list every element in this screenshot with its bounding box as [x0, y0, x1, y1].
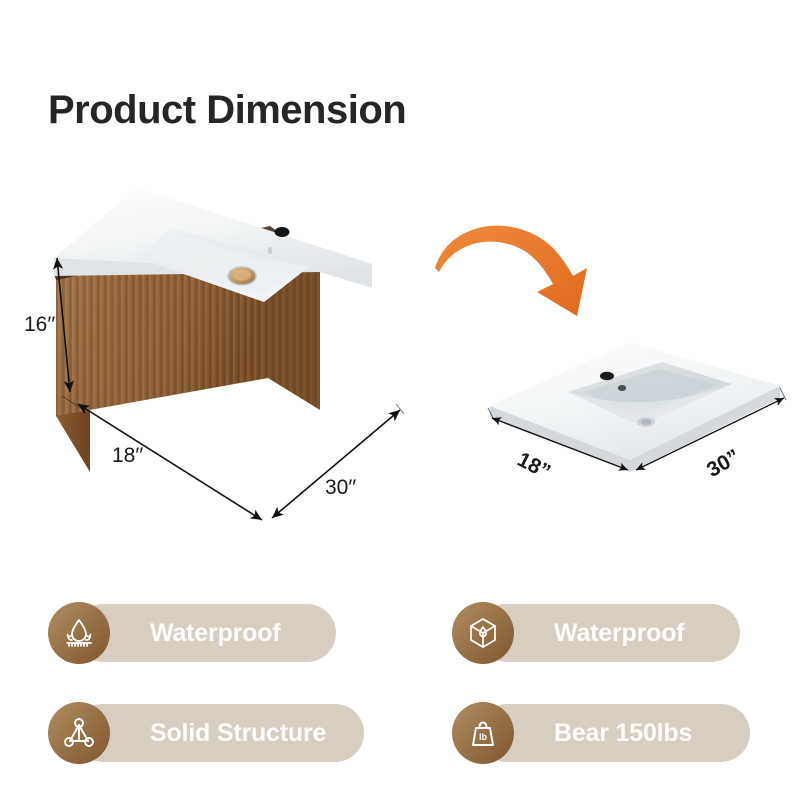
product-dimension-infographic: Product Dimension	[0, 0, 800, 800]
feature-badge-waterproof-left[interactable]: Waterproof	[48, 604, 338, 662]
badge-label: Waterproof	[150, 619, 280, 648]
water-droplet-icon	[48, 602, 110, 664]
molecule-triangle-icon	[48, 702, 110, 764]
feature-badge-bear-weight[interactable]: Bear 150lbs lb	[452, 704, 742, 762]
feature-badge-solid-structure[interactable]: Solid Structure	[48, 704, 338, 762]
sink-overflow-hole	[618, 385, 626, 391]
vanity-product-image	[20, 180, 420, 550]
faucet-hole	[275, 227, 290, 237]
overflow-slot	[268, 247, 272, 254]
vanity-height-label: 16′′	[24, 313, 55, 337]
badge-pill: Solid Structure	[74, 704, 364, 762]
badge-label: Solid Structure	[150, 719, 326, 748]
badge-pill: Waterproof	[478, 604, 740, 662]
badge-pill: Bear 150lbs	[478, 704, 750, 762]
badge-label: Bear 150lbs	[554, 719, 692, 748]
weight-unit-text: lb	[479, 732, 488, 742]
vanity-width-label: 30′′	[325, 476, 356, 500]
badge-pill: Waterproof	[74, 604, 336, 662]
vanity-depth-label: 18′′	[112, 444, 143, 468]
sink-faucet-hole	[600, 372, 614, 380]
weight-lb-icon: lb	[452, 702, 514, 764]
cube-box-icon	[452, 602, 514, 664]
page-title: Product Dimension	[48, 88, 406, 133]
badge-label: Waterproof	[554, 619, 684, 648]
feature-badge-waterproof-right[interactable]: Waterproof	[452, 604, 742, 662]
